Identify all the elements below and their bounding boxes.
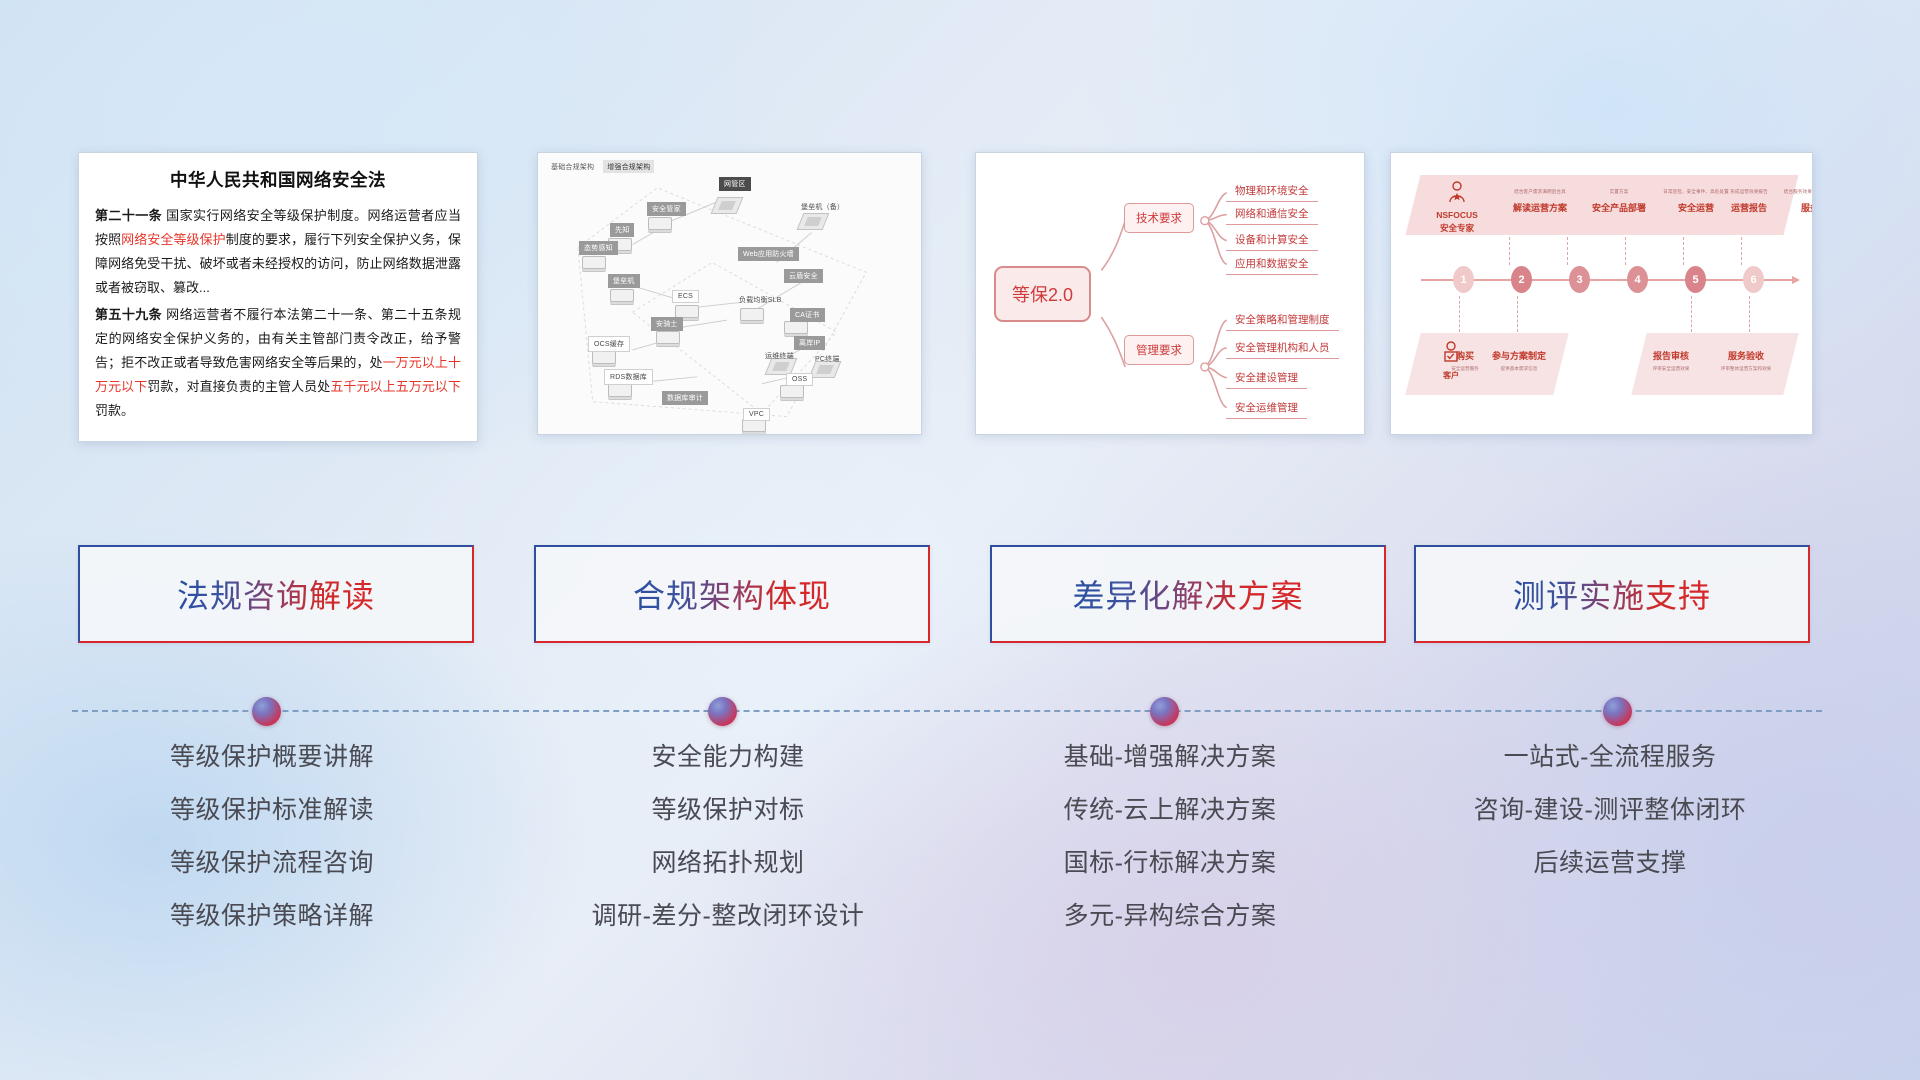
article-59-mid: 罚款，对直接负责的主管人员处 xyxy=(147,379,330,394)
law-document: 中华人民共和国网络安全法 第二十一条 国家实行网络安全等级保护制度。网络运营者应… xyxy=(79,153,477,433)
diagram-server xyxy=(608,384,632,397)
roadmap-top-steps: 结合客户需求满明后台具 解读运营方案 实置方案 安全产品部署 日常巡检、安全事件… xyxy=(1413,175,1791,235)
diagram-server xyxy=(592,351,616,364)
roadmap-dash xyxy=(1517,296,1518,332)
pillar-title-text: 法规咨询解读 xyxy=(177,571,375,617)
roadmap-node-2: 2 xyxy=(1511,266,1532,293)
roadmap: NSFOCUS 安全专家 结合客户需求满明后台具 解读运营方案 实置方案 安全产… xyxy=(1391,153,1812,434)
diagram-node-label: 堡垒机（备） xyxy=(796,200,849,214)
roadmap-step-main: 服务报告 xyxy=(1739,201,1813,214)
card-mindmap-dengbao: 等保2.0 技术要求 物理和环境安全 网络和通信安全 设备和计算安全 应用和数据… xyxy=(975,152,1365,435)
diagram-node-label: 网管区 xyxy=(719,177,751,191)
card-network-architecture: 基础合规架构 增强合规架构 xyxy=(537,152,922,435)
roadmap-dash xyxy=(1509,237,1510,265)
diagram-node-label: 离岸IP xyxy=(794,336,825,350)
mindmap-leaf: 应用和数据安全 xyxy=(1226,256,1318,275)
pillar-items-4: 一站式-全流程服务 咨询-建设-测评整体闭环 后续运营支撑 xyxy=(1410,745,1810,904)
article-21-label: 第二十一条 xyxy=(95,208,162,223)
diagram-node-label: RDS数据库 xyxy=(604,369,653,385)
article-59-label: 第五十九条 xyxy=(95,307,162,322)
list-item: 咨询-建设-测评整体闭环 xyxy=(1410,798,1810,823)
list-item: 后续运营支撑 xyxy=(1410,851,1810,876)
list-item: 等级保护标准解读 xyxy=(72,798,472,823)
reference-cards-row: 中华人民共和国网络安全法 第二十一条 国家实行网络安全等级保护制度。网络运营者应… xyxy=(0,152,1920,442)
timeline-dot-1[interactable] xyxy=(252,697,281,726)
diagram-server xyxy=(784,321,808,334)
timeline-dashed-line xyxy=(72,710,1822,712)
pillar-items-3: 基础-增强解决方案 传统-云上解决方案 国标-行标解决方案 多元-异构综合方案 xyxy=(970,745,1370,957)
pillar-title-box-2[interactable]: 合规架构体现 xyxy=(534,545,930,643)
diagram-node-label: 运维终端 xyxy=(760,349,799,363)
diagram-node-label: 数据库审计 xyxy=(662,391,708,405)
diagram-node-label: 负载均衡SLB xyxy=(734,293,787,307)
timeline xyxy=(0,697,1920,727)
mindmap-leaf: 网络和通信安全 xyxy=(1226,206,1318,225)
diagram-node-label: 态势感知 xyxy=(579,241,618,255)
network-diagram: 基础合规架构 增强合规架构 xyxy=(538,153,921,434)
article-59-highlight-2: 五千元以上五万元以下 xyxy=(330,379,461,394)
timeline-dot-3[interactable] xyxy=(1150,697,1179,726)
mindmap-leaf: 安全运维管理 xyxy=(1226,400,1307,419)
roadmap-node-3: 3 xyxy=(1569,266,1590,293)
timeline-dot-4[interactable] xyxy=(1603,697,1632,726)
diagram-server xyxy=(610,289,634,302)
diagram-node-label: ECS xyxy=(672,290,699,303)
roadmap-dash xyxy=(1683,237,1684,265)
roadmap-step-sub: 提供基本需求信息 xyxy=(1481,366,1557,372)
roadmap-node-6: 6 xyxy=(1743,266,1764,293)
card-nsfocus-roadmap: NSFOCUS 安全专家 结合客户需求满明后台具 解读运营方案 实置方案 安全产… xyxy=(1390,152,1813,435)
list-item: 调研-差分-整改闭环设计 xyxy=(528,904,928,929)
pillar-title-text: 合规架构体现 xyxy=(633,571,831,617)
article-21-highlight: 网络安全等级保护 xyxy=(121,232,226,247)
pillar-title-text: 测评实施支持 xyxy=(1513,571,1711,617)
roadmap-dash xyxy=(1691,296,1692,332)
pillar-items-1: 等级保护概要讲解 等级保护标准解读 等级保护流程咨询 等级保护策略详解 xyxy=(72,745,472,957)
roadmap-node-5: 5 xyxy=(1685,266,1706,293)
diagram-server xyxy=(582,256,606,269)
roadmap-dash xyxy=(1749,296,1750,332)
roadmap-dash xyxy=(1459,296,1460,332)
diagram-server xyxy=(780,385,804,398)
roadmap-dash xyxy=(1567,237,1568,265)
mindmap-leaf: 安全建设管理 xyxy=(1226,370,1307,389)
pillar-title-box-4[interactable]: 测评实施支持 xyxy=(1414,545,1810,643)
roadmap-bottom-step: 报告审核 评审安全运营效果 xyxy=(1631,349,1711,372)
list-item: 基础-增强解决方案 xyxy=(970,745,1370,770)
list-item: 安全能力构建 xyxy=(528,745,928,770)
diagram-node-label: Web应用防火墙 xyxy=(738,247,799,261)
law-title: 中华人民共和国网络安全法 xyxy=(95,167,461,192)
mindmap-branch-technical: 技术要求 xyxy=(1124,203,1194,233)
roadmap-step-sub: 结合服务效果等统出整体运营效果 xyxy=(1739,189,1813,195)
roadmap-step-main: 服务验收 xyxy=(1701,349,1791,362)
pillar-title-text: 差异化解决方案 xyxy=(1072,571,1303,617)
article-59-end: 罚款。 xyxy=(95,403,134,418)
list-item: 一站式-全流程服务 xyxy=(1410,745,1810,770)
diagram-server xyxy=(656,331,680,344)
list-item: 传统-云上解决方案 xyxy=(970,798,1370,823)
mindmap-root-node: 等保2.0 xyxy=(994,266,1091,322)
diagram-node-label: 安骑士 xyxy=(651,317,683,331)
mindmap-leaf: 安全管理机构和人员 xyxy=(1226,340,1339,359)
roadmap-top-step: 结合服务效果等统出整体运营效果 服务报告 xyxy=(1739,189,1813,214)
pillar-title-box-3[interactable]: 差异化解决方案 xyxy=(990,545,1386,643)
roadmap-dash xyxy=(1741,237,1742,265)
roadmap-node-4: 4 xyxy=(1627,266,1648,293)
mindmap-leaf: 安全策略和管理制度 xyxy=(1226,312,1339,331)
list-item: 国标-行标解决方案 xyxy=(970,851,1370,876)
pillar-title-box-1[interactable]: 法规咨询解读 xyxy=(78,545,474,643)
diagram-server xyxy=(740,308,764,321)
list-item: 等级保护策略详解 xyxy=(72,904,472,929)
roadmap-bottom-step: 服务验收 评审整体运营方案和效果 xyxy=(1701,349,1791,372)
roadmap-axis xyxy=(1421,279,1793,281)
roadmap-step-sub: 评审整体运营方案和效果 xyxy=(1701,366,1791,372)
roadmap-bottom-step: 参与方案制定 提供基本需求信息 xyxy=(1481,349,1557,372)
diagram-node-label: 先知 xyxy=(610,223,634,237)
diagram-node-label: 堡垒机 xyxy=(608,274,640,288)
pillar-items-2: 安全能力构建 等级保护对标 网络拓扑规划 调研-差分-整改闭环设计 xyxy=(528,745,928,957)
mindmap-branch-management: 管理要求 xyxy=(1124,335,1194,365)
card-cybersecurity-law: 中华人民共和国网络安全法 第二十一条 国家实行网络安全等级保护制度。网络运营者应… xyxy=(78,152,478,442)
timeline-dot-2[interactable] xyxy=(708,697,737,726)
list-item: 等级保护流程咨询 xyxy=(72,851,472,876)
diagram-node-label: PC终端 xyxy=(810,352,845,366)
mindmap-leaf: 物理和环境安全 xyxy=(1226,183,1318,202)
law-article-21: 第二十一条 国家实行网络安全等级保护制度。网络运营者应当按照网络安全等级保护制度… xyxy=(95,204,461,300)
mindmap: 等保2.0 技术要求 物理和环境安全 网络和通信安全 设备和计算安全 应用和数据… xyxy=(976,153,1364,434)
diagram-node-label: CA证书 xyxy=(790,308,825,322)
roadmap-dash xyxy=(1625,237,1626,265)
roadmap-step-main: 参与方案制定 xyxy=(1481,349,1557,362)
diagram-server xyxy=(648,217,672,230)
diagram-node-label: 安全管家 xyxy=(647,202,686,216)
diagram-node-label: OCS缓存 xyxy=(588,336,630,352)
diagram-node-label: OSS xyxy=(786,373,813,386)
list-item: 等级保护对标 xyxy=(528,798,928,823)
list-item: 网络拓扑规划 xyxy=(528,851,928,876)
diagram-connectors xyxy=(538,153,921,435)
diagram-node-label: 云盾安全 xyxy=(784,269,823,283)
mindmap-leaf: 设备和计算安全 xyxy=(1226,232,1318,251)
list-item: 多元-异构综合方案 xyxy=(970,904,1370,929)
pillar-titles-row: 法规咨询解读 合规架构体现 差异化解决方案 测评实施支持 xyxy=(0,545,1920,643)
law-article-59: 第五十九条 网络运营者不履行本法第二十一条、第二十五条规定的网络安全保护义务的，… xyxy=(95,303,461,423)
roadmap-step-main: 报告审核 xyxy=(1631,349,1711,362)
list-item: 等级保护概要讲解 xyxy=(72,745,472,770)
diagram-node-label: VPC xyxy=(743,408,770,421)
roadmap-node-1: 1 xyxy=(1453,266,1474,293)
roadmap-step-sub: 评审安全运营效果 xyxy=(1631,366,1711,372)
